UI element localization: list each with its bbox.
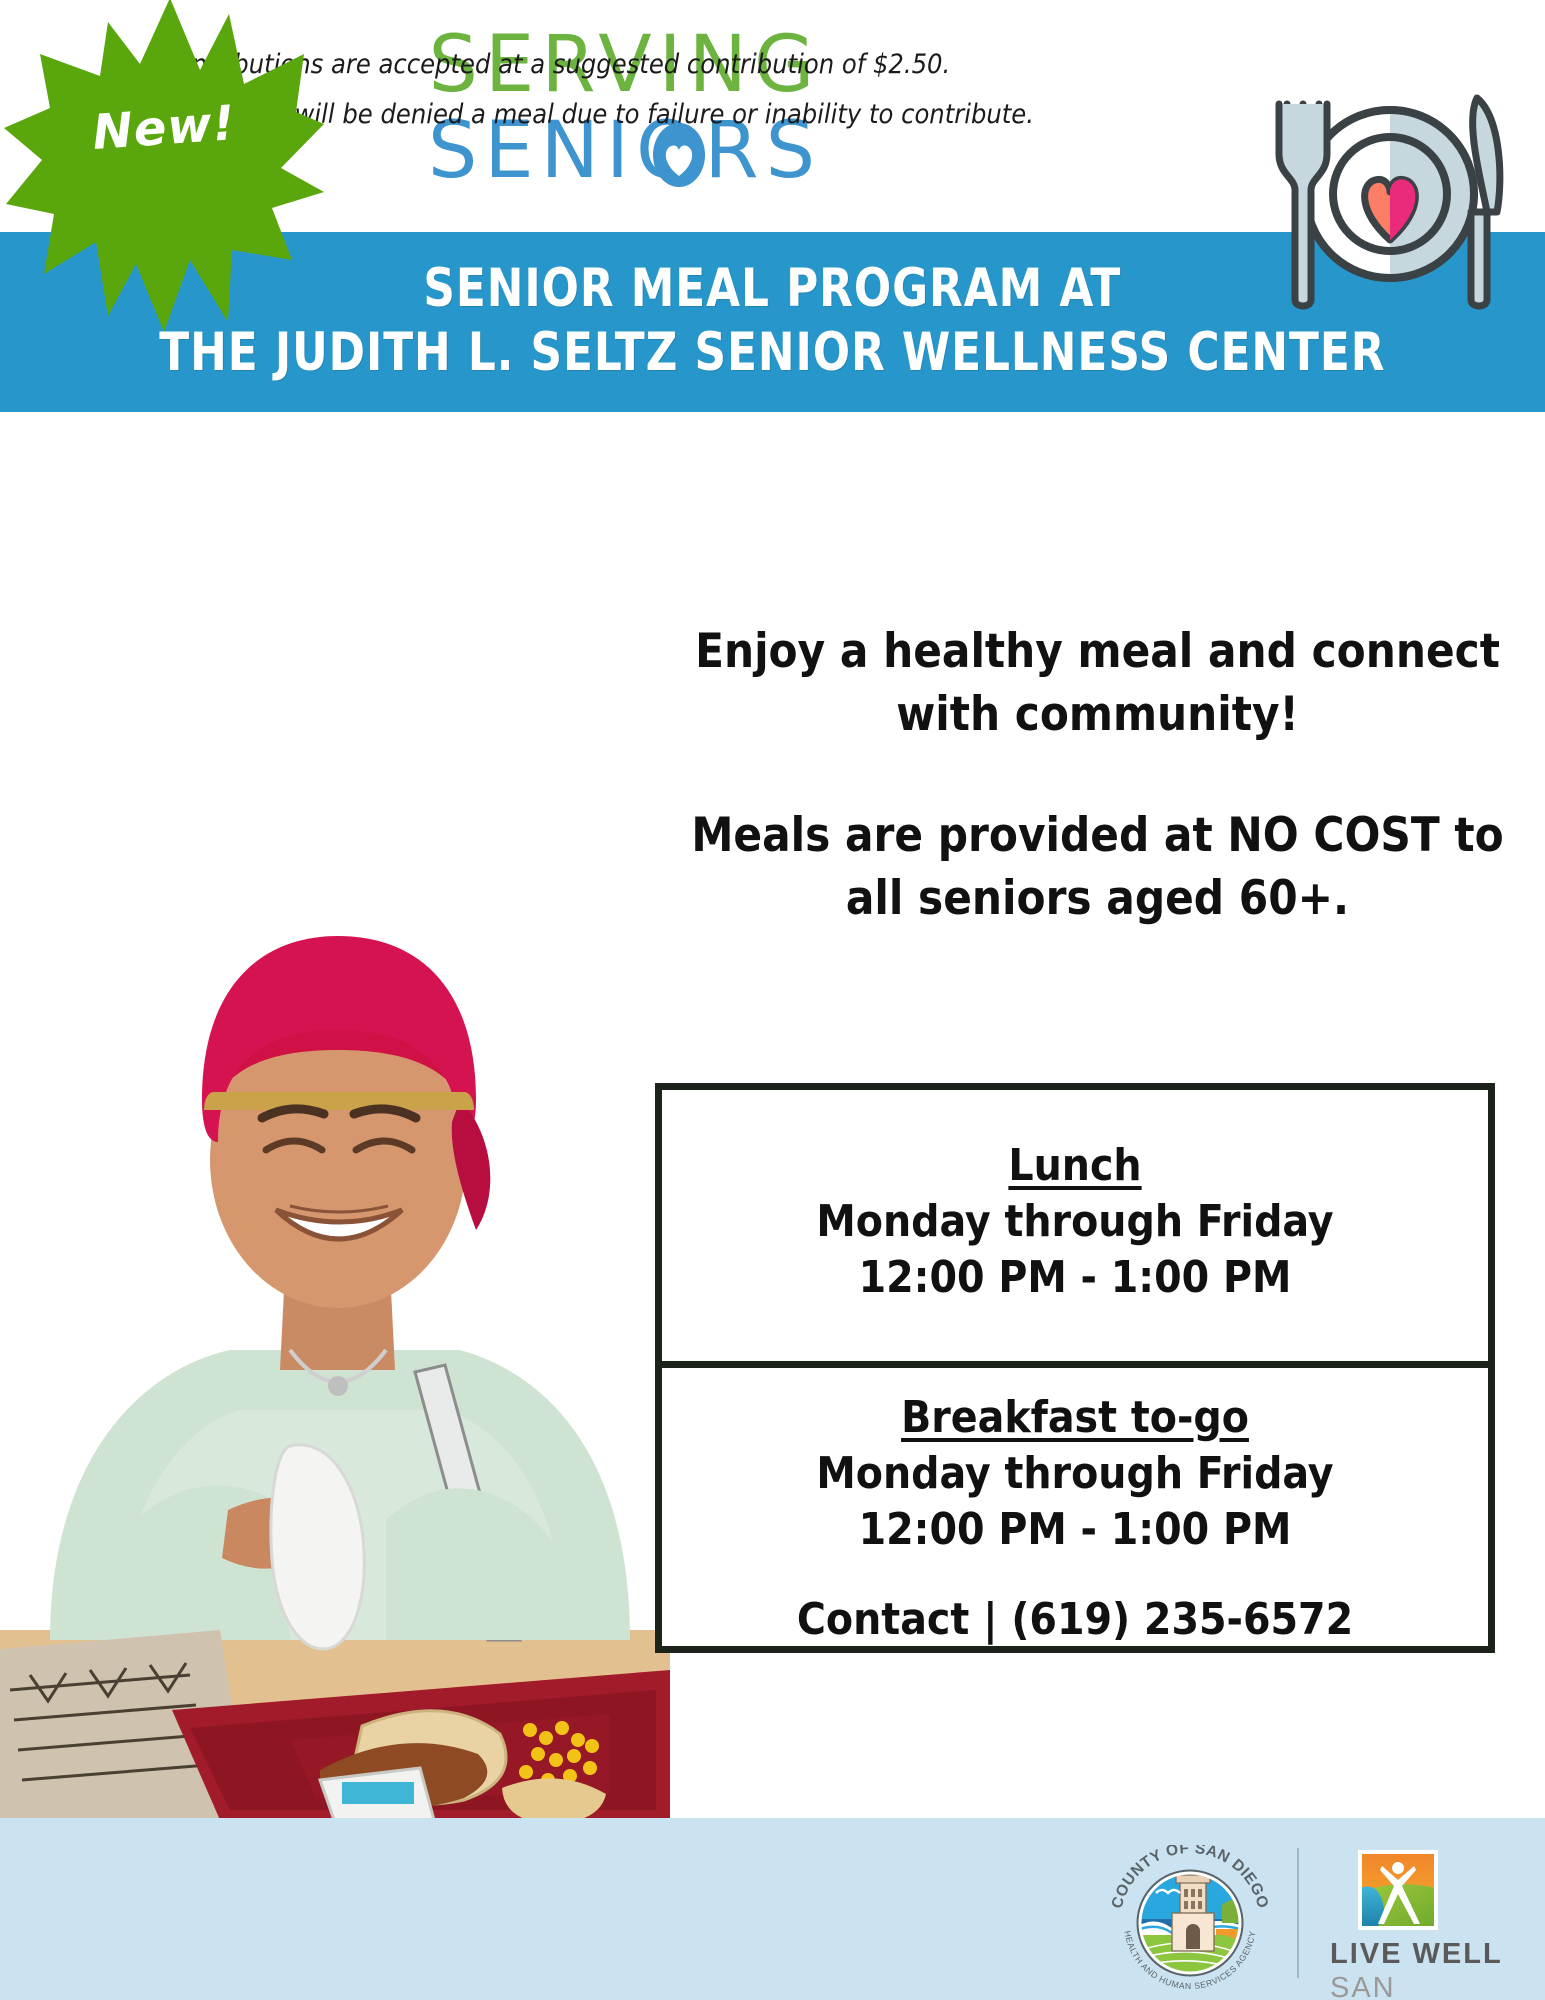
plate-fork-knife-heart-icon <box>1265 62 1515 312</box>
lunch-heading: Lunch <box>1008 1138 1141 1194</box>
contact-phone[interactable]: Contact | (619) 235-6572 <box>797 1592 1353 1648</box>
live-well-line-2: SAN DIEGO <box>1330 1972 1505 2000</box>
starburst-shape <box>4 0 324 332</box>
breakfast-heading: Breakfast to-go <box>901 1390 1249 1446</box>
live-well-mark-icon <box>1358 1850 1438 1930</box>
live-well-san-diego-logo: LIVE WELL SAN DIEGO <box>1330 1850 1530 1990</box>
breakfast-details: Breakfast to-go Monday through Friday 12… <box>662 1368 1488 1646</box>
lunch-hours: 12:00 PM - 1:00 PM <box>859 1250 1292 1306</box>
blurb-paragraph-1: Enjoy a healthy meal and connect with co… <box>660 620 1535 746</box>
live-well-line-1: LIVE WELL <box>1330 1938 1505 1971</box>
breakfast-days: Monday through Friday <box>816 1446 1333 1502</box>
footer-logo-divider <box>1297 1848 1299 1978</box>
banner-title-line-2: THE JUDITH L. SELTZ SENIOR WELLNESS CENT… <box>159 320 1385 386</box>
photo-illustration <box>0 630 670 1820</box>
banner-title-line-1: SENIOR MEAL PROGRAM AT <box>424 258 1122 320</box>
county-of-san-diego-seal: COUNTY OF SAN DIEGO HEALTH AND HUMAN SER… <box>1090 1845 1290 1990</box>
blurb-spacer <box>660 746 1535 804</box>
footer-band <box>0 1818 1545 2000</box>
intro-blurb: Enjoy a healthy meal and connect with co… <box>660 620 1535 930</box>
lunch-details: Lunch Monday through Friday 12:00 PM - 1… <box>662 1090 1488 1361</box>
flyer-page: SERVING SENIORS New! <box>0 0 1545 2000</box>
lunch-days: Monday through Friday <box>816 1194 1333 1250</box>
schedule-box-breakfast: Breakfast to-go Monday through Friday 12… <box>655 1368 1495 1653</box>
senior-meal-photo <box>0 630 670 1820</box>
new-badge: New! <box>4 0 324 332</box>
breakfast-hours: 12:00 PM - 1:00 PM <box>859 1502 1292 1558</box>
schedule-box-lunch: Lunch Monday through Friday 12:00 PM - 1… <box>655 1083 1495 1368</box>
blurb-paragraph-2: Meals are provided at NO COST to all sen… <box>660 804 1535 930</box>
